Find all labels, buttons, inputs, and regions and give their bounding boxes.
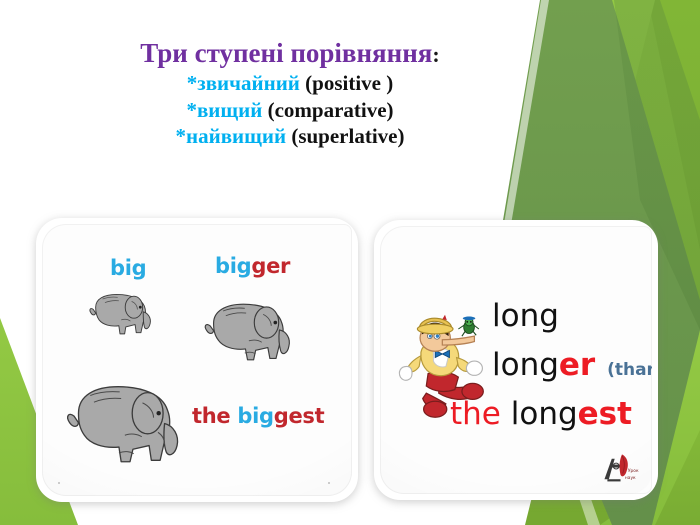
degree-label-ua-positive: звичайний bbox=[197, 71, 300, 95]
label-bigger: bigger bbox=[215, 254, 290, 278]
label-biggest: the biggest bbox=[192, 404, 324, 428]
svg-text:Урок: Урок bbox=[628, 468, 639, 474]
elephant-small-icon bbox=[84, 284, 156, 342]
label-big: big bbox=[110, 256, 146, 280]
title-block: Три ступені порівняння: *звичайний (posi… bbox=[0, 38, 580, 148]
publisher-logo-icon: Урок наук bbox=[600, 450, 644, 488]
card-elephants: big bigger the biggest bbox=[36, 218, 358, 502]
corner-dot-left bbox=[58, 482, 60, 484]
page-title-text: Три ступені порівняння bbox=[140, 38, 432, 68]
degree-label-ua-superlative: найвищий bbox=[186, 124, 286, 148]
label-long: long bbox=[492, 298, 559, 334]
label-longer-than: (than) bbox=[595, 360, 652, 380]
label-bigger-red: ger bbox=[251, 254, 290, 278]
degree-label-ua-comparative: вищий bbox=[197, 98, 262, 122]
bullet-star-comparative: * bbox=[186, 98, 197, 122]
degree-line-superlative: *найвищий (superlative) bbox=[0, 124, 580, 148]
card-elephants-inner: big bigger the biggest bbox=[42, 224, 352, 496]
degree-line-comparative: *вищий (comparative) bbox=[0, 98, 580, 122]
label-longest: the longest bbox=[450, 396, 632, 432]
label-biggest-red: gest bbox=[274, 404, 325, 428]
page-title: Три ступені порівняння: bbox=[0, 38, 580, 69]
elephant-medium-icon bbox=[200, 292, 295, 370]
label-big-cyan: big bbox=[110, 256, 146, 280]
degree-line-positive: *звичайний (positive ) bbox=[0, 71, 580, 95]
degree-label-en-comparative: (comparative) bbox=[268, 98, 394, 122]
slide-canvas: Три ступені порівняння: *звичайний (posi… bbox=[0, 0, 700, 525]
card-pinocchio-inner: long longer (than) the longest bbox=[380, 226, 652, 494]
label-biggest-cyan: big bbox=[237, 404, 273, 428]
label-biggest-the: the bbox=[192, 404, 237, 428]
label-longest-red: est bbox=[578, 396, 632, 432]
bullet-star-superlative: * bbox=[176, 124, 187, 148]
degree-label-en-superlative: (superlative) bbox=[291, 124, 404, 148]
label-longest-black: long bbox=[511, 396, 578, 432]
svg-text:наук: наук bbox=[625, 476, 636, 481]
page-title-colon: : bbox=[432, 42, 439, 67]
label-bigger-cyan: big bbox=[215, 254, 251, 278]
label-longer-red: er bbox=[559, 347, 595, 383]
label-longest-the: the bbox=[450, 396, 511, 432]
degree-label-en-positive: (positive ) bbox=[305, 71, 393, 95]
label-longer: longer (than) bbox=[492, 347, 652, 383]
bullet-star-positive: * bbox=[187, 71, 198, 95]
elephant-large-icon bbox=[62, 372, 184, 475]
card-pinocchio: long longer (than) the longest bbox=[374, 220, 658, 500]
label-longer-black: long bbox=[492, 347, 559, 383]
label-long-black: long bbox=[492, 298, 559, 334]
corner-dot-right bbox=[328, 482, 330, 484]
label-longer-than-text: (than) bbox=[607, 360, 652, 380]
